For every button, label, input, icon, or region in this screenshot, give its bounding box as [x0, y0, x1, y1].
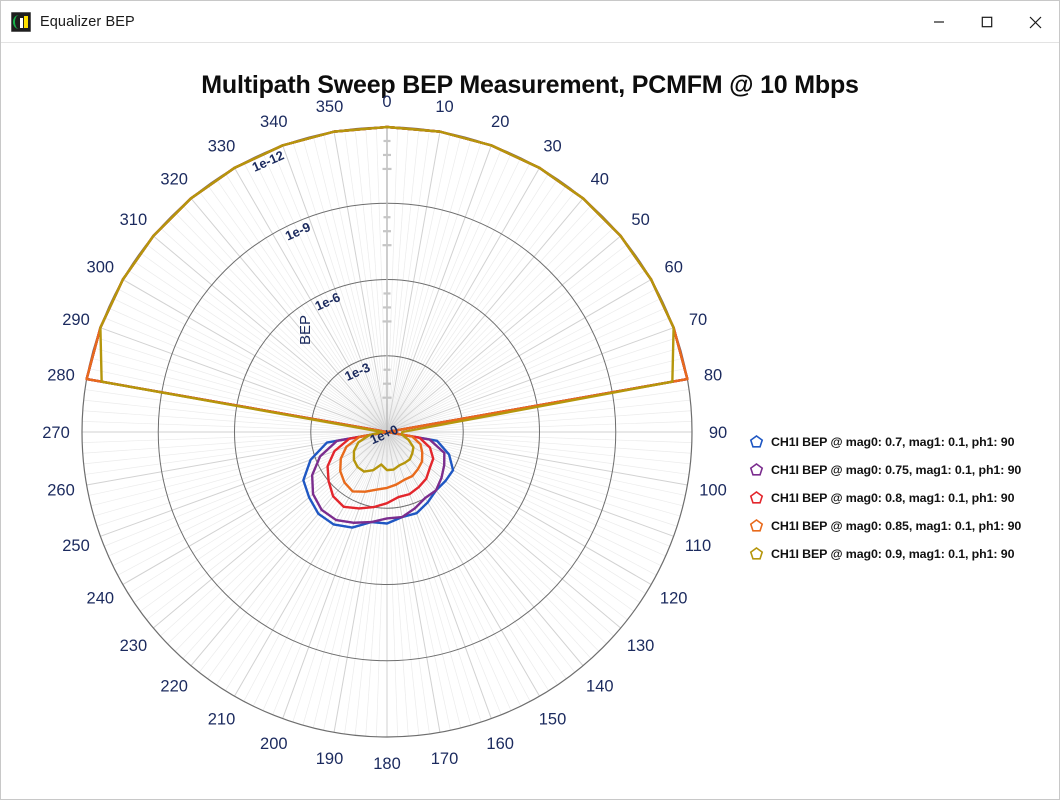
angular-tick-label: 120 [660, 590, 688, 608]
angular-tick-label: 350 [316, 98, 344, 116]
angular-tick-label: 180 [373, 755, 401, 773]
angular-tick-label: 110 [685, 537, 711, 555]
minimize-button[interactable] [915, 1, 963, 43]
legend-item-label: CH1I BEP @ mag0: 0.8, mag1: 0.1, ph1: 90 [771, 491, 1014, 505]
pentagon-marker-icon [749, 434, 765, 450]
angular-tick-label: 70 [689, 311, 707, 329]
window-title: Equalizer BEP [40, 14, 135, 30]
angular-tick-label: 160 [486, 735, 514, 753]
angular-tick-label: 190 [316, 750, 344, 768]
angular-tick-label: 60 [665, 259, 683, 277]
legend-item[interactable]: CH1I BEP @ mag0: 0.8, mag1: 0.1, ph1: 90 [749, 484, 1049, 512]
angular-tick-label: 20 [491, 113, 509, 131]
window-controls [915, 1, 1059, 43]
pentagon-marker-icon [749, 462, 765, 478]
angular-tick-label: 10 [435, 98, 453, 116]
angular-tick-label: 260 [47, 482, 75, 500]
angular-tick-label: 50 [631, 211, 649, 229]
angular-tick-label: 40 [591, 170, 609, 188]
legend-item[interactable]: CH1I BEP @ mag0: 0.7, mag1: 0.1, ph1: 90 [749, 428, 1049, 456]
angular-tick-label: 240 [87, 590, 115, 608]
radial-axis-title: BEP [297, 315, 314, 345]
angular-tick-label: 170 [431, 750, 459, 768]
maximize-button[interactable] [963, 1, 1011, 43]
legend-item-label: CH1I BEP @ mag0: 0.9, mag1: 0.1, ph1: 90 [771, 547, 1014, 561]
legend-item[interactable]: CH1I BEP @ mag0: 0.85, mag1: 0.1, ph1: 9… [749, 512, 1049, 540]
angular-tick-label: 220 [160, 678, 188, 696]
legend-item[interactable]: CH1I BEP @ mag0: 0.9, mag1: 0.1, ph1: 90 [749, 540, 1049, 568]
angular-tick-label: 80 [704, 367, 722, 385]
angular-tick-label: 330 [208, 137, 236, 155]
angular-tick-label: 200 [260, 735, 288, 753]
legend-item-label: CH1I BEP @ mag0: 0.7, mag1: 0.1, ph1: 90 [771, 435, 1014, 449]
angular-tick-label: 290 [62, 311, 90, 329]
legend: CH1I BEP @ mag0: 0.7, mag1: 0.1, ph1: 90… [749, 428, 1049, 568]
angular-tick-label: 150 [539, 711, 567, 729]
pentagon-marker-icon [749, 490, 765, 506]
angular-tick-label: 90 [709, 424, 727, 442]
angular-tick-label: 340 [260, 113, 288, 131]
legend-item[interactable]: CH1I BEP @ mag0: 0.75, mag1: 0.1, ph1: 9… [749, 456, 1049, 484]
app-window: Equalizer BEP Multipath Sweep BEP Measur… [0, 0, 1060, 800]
angular-tick-label: 230 [120, 637, 148, 655]
angular-tick-label: 140 [586, 678, 614, 696]
chart-area: Multipath Sweep BEP Measurement, PCMFM @… [1, 43, 1059, 799]
close-button[interactable] [1011, 1, 1059, 43]
angular-tick-label: 130 [627, 637, 655, 655]
angular-tick-label: 210 [208, 711, 236, 729]
radial-axis-title-text: BEP [297, 315, 314, 345]
legend-item-label: CH1I BEP @ mag0: 0.85, mag1: 0.1, ph1: 9… [771, 519, 1021, 533]
title-bar: Equalizer BEP [1, 1, 1059, 43]
angular-tick-label: 320 [160, 170, 188, 188]
angular-tick-label: 280 [47, 367, 75, 385]
polar-plot: 0102030405060708090100110120130140150160… [1, 43, 1060, 800]
angular-tick-label: 30 [543, 137, 561, 155]
legend-item-label: CH1I BEP @ mag0: 0.75, mag1: 0.1, ph1: 9… [771, 463, 1021, 477]
radial-tick-label: 1e-9 [283, 219, 313, 243]
angular-tick-label: 100 [699, 482, 727, 500]
angular-tick-label: 300 [87, 259, 115, 277]
pentagon-marker-icon [749, 518, 765, 534]
angular-tick-label: 270 [42, 424, 70, 442]
pentagon-marker-icon [749, 546, 765, 562]
app-icon [11, 12, 31, 32]
angular-tick-label: 250 [62, 537, 90, 555]
angular-tick-label: 310 [120, 211, 148, 229]
angular-tick-label: 0 [382, 93, 391, 111]
